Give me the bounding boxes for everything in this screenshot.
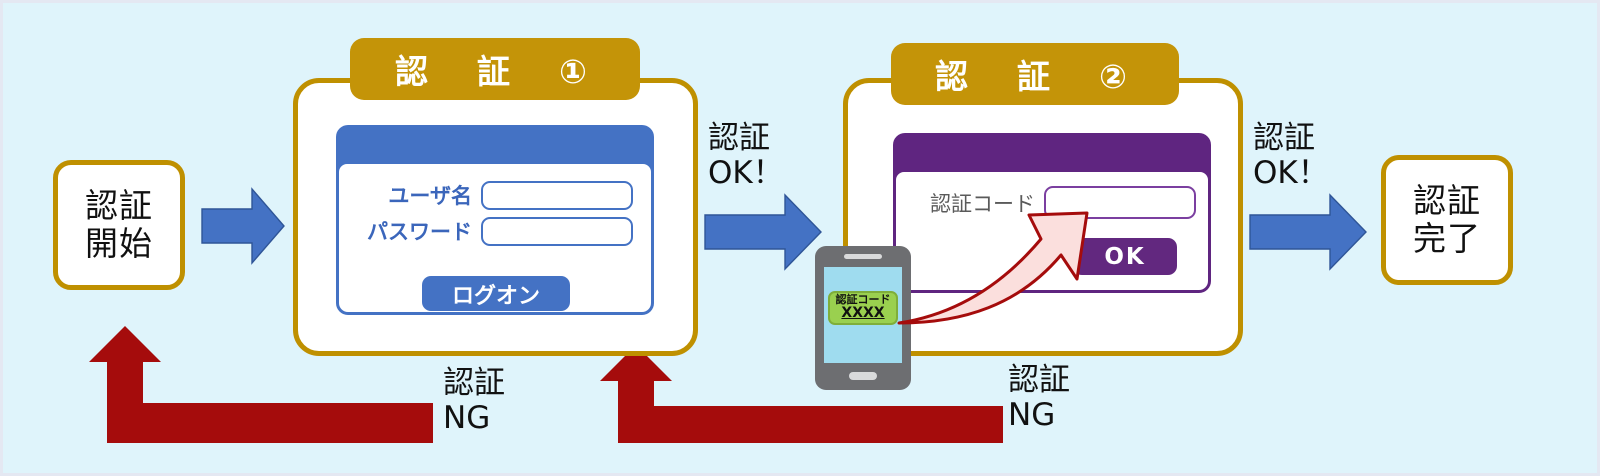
- panel-1-header-label: 認 証 ①: [395, 45, 595, 93]
- logon-button[interactable]: ログオン: [422, 276, 570, 311]
- ng-caption-2-line2: NG: [1008, 398, 1070, 433]
- start-box: 認証 開始: [53, 160, 185, 290]
- ng-caption-1-line1: 認証: [443, 366, 505, 401]
- ng-caption-2: 認証 NG: [1008, 363, 1070, 432]
- username-label: ユーザ名: [388, 180, 472, 210]
- ng-caption-1-line2: NG: [443, 401, 505, 436]
- password-row: パスワード: [339, 216, 651, 246]
- login-dialog-titlebar: [339, 128, 651, 164]
- password-input[interactable]: [481, 217, 633, 246]
- login-dialog: ユーザ名 パスワード ログオン: [336, 125, 654, 315]
- end-box: 認証 完了: [1381, 155, 1513, 285]
- ok-caption-2-line1: 認証: [1253, 121, 1329, 156]
- login-dialog-body: ユーザ名 パスワード ログオン: [339, 164, 651, 315]
- panel-1-header: 認 証 ①: [350, 38, 640, 100]
- end-box-line2: 完了: [1413, 220, 1481, 258]
- diagram-canvas: 認証 開始 認 証 ① ユーザ名 パスワード ログオン 認証 NG: [0, 0, 1600, 476]
- phone-code-notification: 認証コード XXXX: [828, 291, 898, 325]
- ok-caption-2-line2: OK！: [1253, 156, 1329, 191]
- username-row: ユーザ名: [339, 180, 651, 210]
- ok-caption-1-line2: OK！: [708, 156, 784, 191]
- start-box-line2: 開始: [85, 225, 153, 263]
- ng-caption-2-line1: 認証: [1008, 363, 1070, 398]
- phone-home-button-icon: [849, 372, 877, 380]
- code-dialog-titlebar: [896, 136, 1208, 172]
- logon-button-label: ログオン: [452, 278, 540, 310]
- ok-caption-1: 認証 OK！: [708, 121, 784, 190]
- phone-speaker-icon: [844, 254, 882, 259]
- username-input[interactable]: [481, 181, 633, 210]
- arrow-start-to-panel1: [200, 185, 286, 267]
- end-box-line1: 認証: [1413, 182, 1481, 220]
- arrow-panel2-to-end: [1248, 191, 1368, 273]
- start-box-line1: 認証: [85, 187, 153, 225]
- ok-caption-2: 認証 OK！: [1253, 121, 1329, 190]
- ok-caption-1-line1: 認証: [708, 121, 784, 156]
- arrow-panel1-to-panel2: [703, 191, 823, 273]
- phone-note-code: XXXX: [841, 306, 884, 321]
- password-label: パスワード: [367, 216, 472, 246]
- code-transfer-arrow: [891, 193, 1121, 328]
- ng-caption-1: 認証 NG: [443, 366, 505, 435]
- panel-2-header-label: 認 証 ②: [935, 50, 1135, 98]
- panel-2-header: 認 証 ②: [891, 43, 1179, 105]
